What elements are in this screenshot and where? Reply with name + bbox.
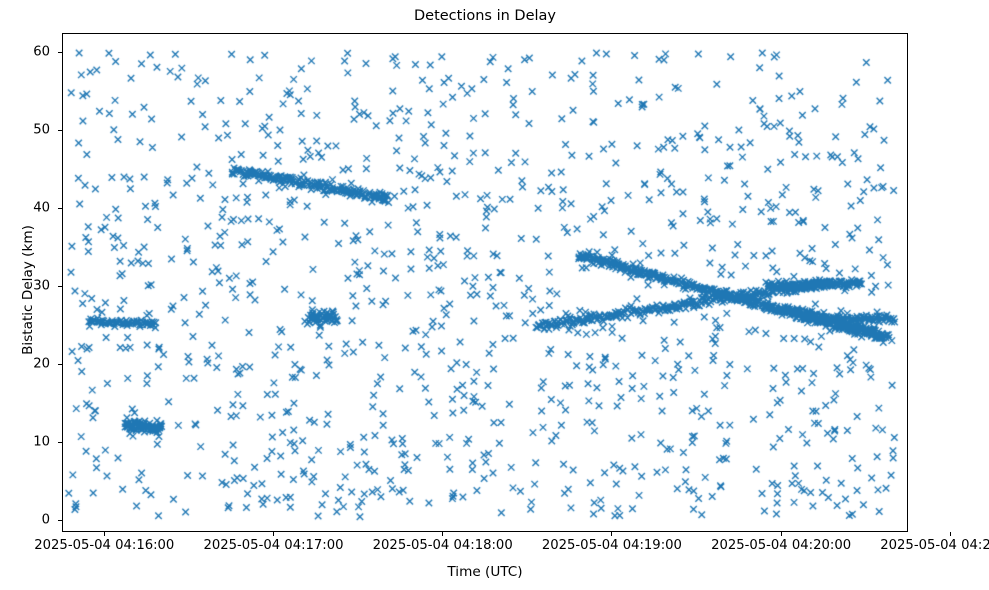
- y-tick-mark: [58, 442, 62, 443]
- x-tick-label: 2025-05-04 04:17:00: [203, 538, 343, 553]
- plot-axes: [62, 33, 908, 532]
- x-tick-label: 2025-05-04 04:16:00: [34, 538, 174, 553]
- y-tick-label: 0: [12, 513, 50, 528]
- y-tick-label: 60: [12, 45, 50, 60]
- y-axis-label: Bistatic Delay (km): [20, 170, 36, 410]
- x-tick-label: 2025-05-04 04:19:00: [542, 538, 682, 553]
- x-tick-label: 2025-05-04 04:18:00: [373, 538, 513, 553]
- x-tick-mark: [611, 532, 612, 536]
- x-tick-label: 2025-05-04 04:21:00: [880, 538, 989, 553]
- y-tick-mark: [58, 286, 62, 287]
- page-title: Detections in Delay: [62, 8, 908, 24]
- x-tick-mark: [104, 532, 105, 536]
- x-tick-mark: [950, 532, 951, 536]
- y-tick-mark: [58, 130, 62, 131]
- y-tick-mark: [58, 52, 62, 53]
- scatter-plot-canvas: [63, 34, 908, 532]
- y-tick-mark: [58, 208, 62, 209]
- x-tick-mark: [442, 532, 443, 536]
- x-tick-mark: [273, 532, 274, 536]
- x-tick-label: 2025-05-04 04:20:00: [711, 538, 851, 553]
- x-tick-mark: [781, 532, 782, 536]
- y-tick-mark: [58, 520, 62, 521]
- y-tick-label: 10: [12, 435, 50, 450]
- y-tick-mark: [58, 364, 62, 365]
- y-tick-label: 50: [12, 123, 50, 138]
- matplotlib-figure: Detections in Delay 2025-05-04 04:16:002…: [0, 0, 989, 590]
- x-axis-label: Time (UTC): [62, 564, 908, 580]
